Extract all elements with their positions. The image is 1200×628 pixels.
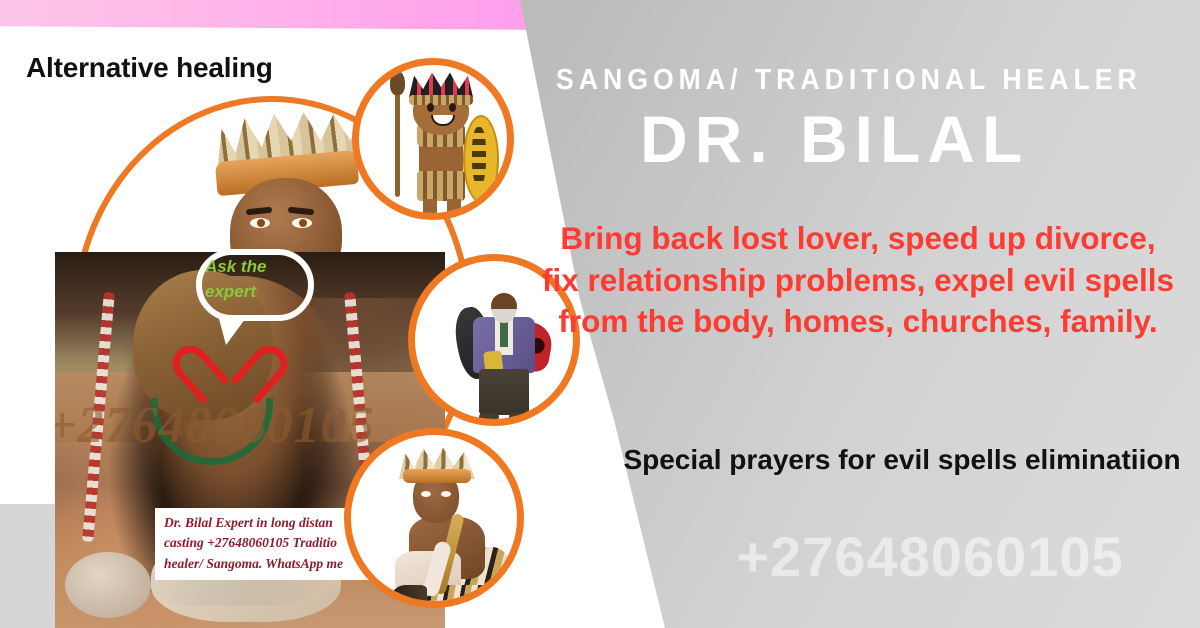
warrior-kilt [417, 171, 465, 201]
services-description: Bring back lost lover, speed up divorce,… [538, 218, 1178, 343]
healer-figure [465, 293, 543, 403]
warrior-eye-right [449, 103, 456, 112]
warrior-eye-left [427, 103, 434, 112]
shield-marking [472, 127, 486, 185]
warrior-headdress-icon [409, 71, 473, 97]
special-prayers-text: Special prayers for evil spells eliminat… [612, 442, 1192, 479]
spear-icon [395, 79, 400, 197]
eyebrow-right [288, 207, 314, 216]
kicker-title: SANGOMA/ TRADITIONAL HEALER [556, 64, 1126, 97]
pupil-left [257, 219, 265, 227]
circle-badge-dancer [344, 428, 524, 608]
dancer-eye-right [441, 491, 451, 497]
healer-name-title: DR. BILAL [640, 106, 1200, 172]
phone-watermark-right: +27648060105 [660, 524, 1200, 589]
circle-badge-warrior [352, 58, 514, 220]
heart-outline-icon [196, 336, 268, 400]
clay-pot [65, 552, 151, 618]
dancer-headband [403, 469, 471, 483]
warrior-leg-left [423, 199, 437, 219]
dancer-eye-left [421, 491, 431, 497]
warrior-leg-right [447, 199, 461, 219]
poster-canvas: Alternative healing +27648060105 [0, 0, 1200, 628]
alternative-healing-heading: Alternative healing [26, 52, 273, 84]
tie [500, 321, 508, 347]
spear-tip-icon [390, 71, 405, 95]
top-pink-bar [0, 0, 595, 30]
healer-foot-left [479, 413, 499, 421]
pants [479, 369, 529, 415]
healer-foot-right [509, 413, 529, 421]
eyebrow-left [246, 207, 272, 216]
speech-bubble-text: Ask the expert [205, 255, 311, 304]
pupil-right [299, 219, 307, 227]
warrior-headband [409, 95, 473, 105]
